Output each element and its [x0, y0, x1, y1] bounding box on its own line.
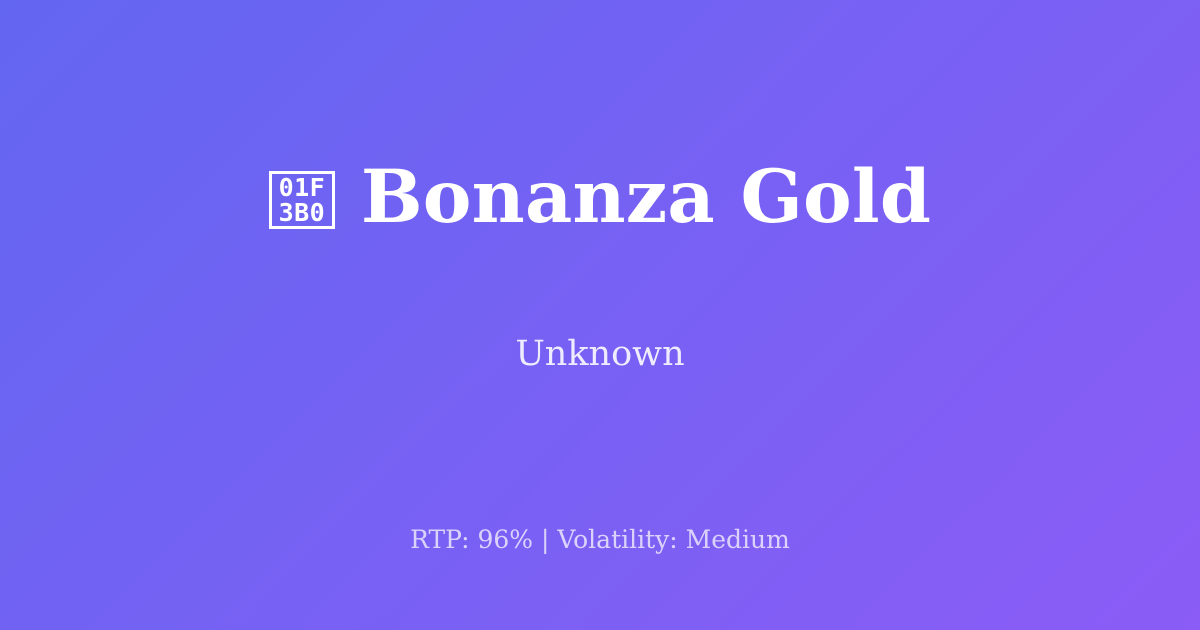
title-row: 01F 3B0 Bonanza Gold [269, 112, 931, 283]
page-title: Bonanza Gold [361, 161, 931, 234]
game-meta-line: RTP: 96% | Volatility: Medium [0, 527, 1200, 552]
hero-block: 01F 3B0 Bonanza Gold Unknown [0, 0, 1200, 492]
og-share-card: 01F 3B0 Bonanza Gold Unknown RTP: 96% | … [0, 0, 1200, 630]
slot-machine-icon: 01F 3B0 [269, 171, 335, 229]
page-subtitle: Unknown [515, 337, 684, 372]
glyph-hex-top: 01F [279, 175, 326, 200]
glyph-hex-bottom: 3B0 [279, 200, 326, 225]
